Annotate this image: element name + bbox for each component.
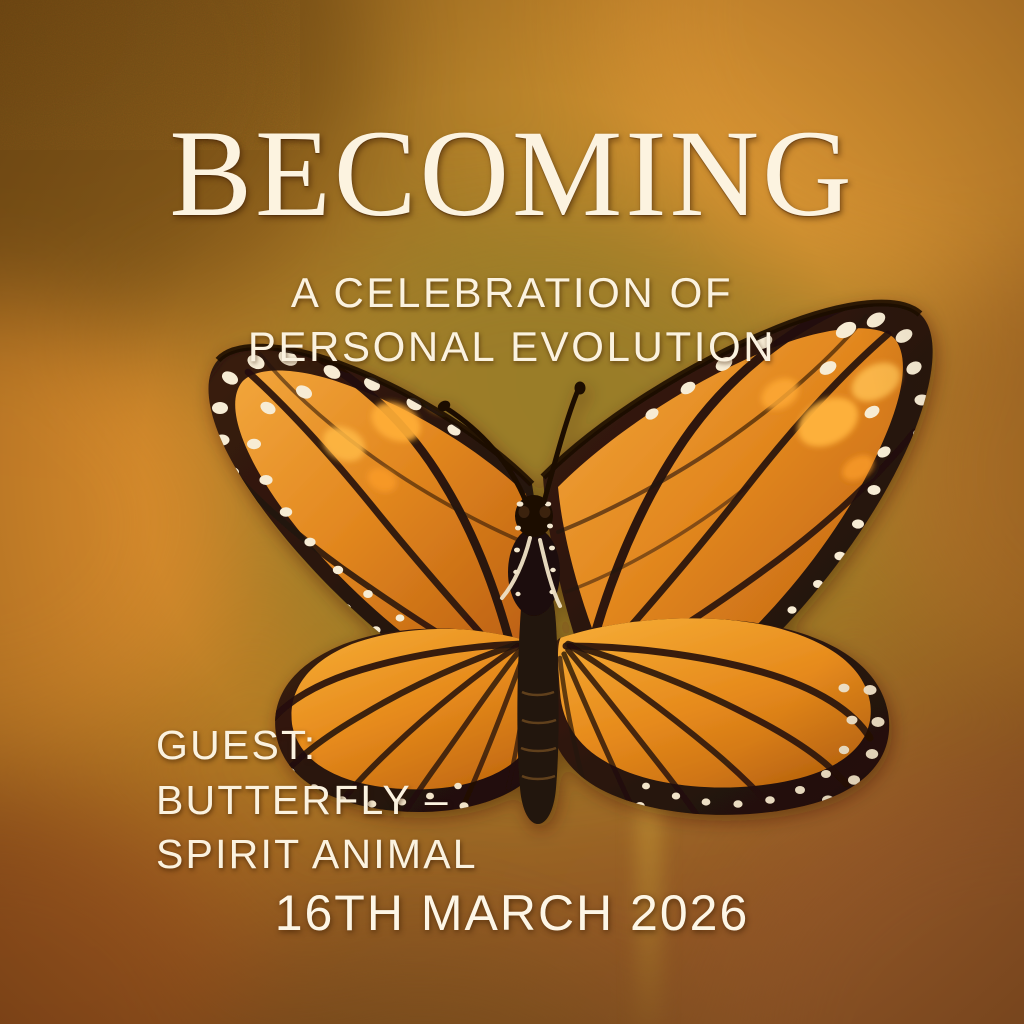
bokeh-blob [171, 958, 669, 1024]
subtitle-line-2: PERSONAL EVOLUTION [0, 320, 1024, 374]
subtitle: A CELEBRATION OF PERSONAL EVOLUTION [0, 266, 1024, 374]
page-title: BECOMING [0, 112, 1024, 236]
guest-line-2: BUTTERFLY – [156, 773, 478, 828]
guest-block: GUEST: BUTTERFLY – SPIRIT ANIMAL [156, 718, 478, 882]
guest-line-3: SPIRIT ANIMAL [156, 827, 478, 882]
event-date: 16TH MARCH 2026 [0, 884, 1024, 942]
subtitle-line-1: A CELEBRATION OF [0, 266, 1024, 320]
guest-line-1: GUEST: [156, 718, 478, 773]
poster-canvas: BECOMING A CELEBRATION OF PERSONAL EVOLU… [0, 0, 1024, 1024]
